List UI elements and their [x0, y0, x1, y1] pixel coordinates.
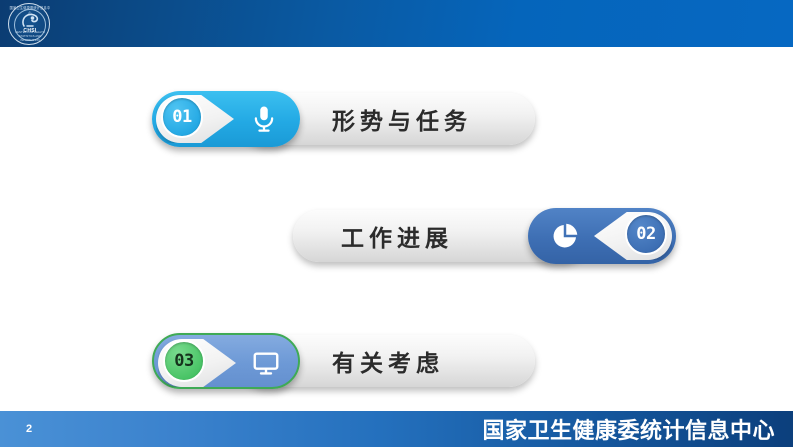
agenda-item-02-number-badge: 02: [625, 213, 667, 255]
slide-content: 01 形势与任务 02: [0, 47, 793, 405]
logo-arc-bottom-text: CENTER FOR HEALTH STATISTICS AND INFORMA…: [9, 30, 51, 42]
agenda-item-03-icon-pill[interactable]: 03: [152, 333, 300, 389]
agenda-item-01[interactable]: 01 形势与任务: [152, 90, 535, 148]
presentation-slide: 国家卫生健康委统计信息中心 CHSI CENTER FOR HEALTH STA…: [0, 0, 793, 447]
page-number: 2: [26, 423, 32, 435]
monitor-icon: [251, 348, 281, 378]
agenda-item-03-number-badge: 03: [163, 340, 205, 382]
slide-footer-bar: 2 国家卫生健康委统计信息中心: [0, 411, 793, 447]
microphone-icon: [249, 104, 279, 134]
pie-chart-icon: [550, 221, 580, 251]
agenda-item-02[interactable]: 02 工作进展: [293, 207, 676, 265]
logo-caduceus-icon: [20, 13, 40, 29]
agenda-item-01-label: 形势与任务: [332, 102, 472, 136]
logo-outer-ring: 国家卫生健康委统计信息中心 CHSI CENTER FOR HEALTH STA…: [8, 3, 50, 45]
footer-organization-name: 国家卫生健康委统计信息中心: [482, 413, 775, 445]
agenda-item-01-icon-pill[interactable]: 01: [152, 91, 300, 147]
agenda-item-02-icon-pill[interactable]: 02: [528, 208, 676, 264]
slide-header-bar: 国家卫生健康委统计信息中心 CHSI CENTER FOR HEALTH STA…: [0, 0, 793, 47]
agenda-item-03-label: 有关考虑: [332, 344, 444, 378]
agenda-item-02-label: 工作进展: [341, 219, 453, 253]
organization-logo: 国家卫生健康委统计信息中心 CHSI CENTER FOR HEALTH STA…: [8, 3, 52, 47]
agenda-item-01-number-badge: 01: [161, 96, 203, 138]
agenda-item-03[interactable]: 03 有关考虑: [152, 332, 535, 390]
